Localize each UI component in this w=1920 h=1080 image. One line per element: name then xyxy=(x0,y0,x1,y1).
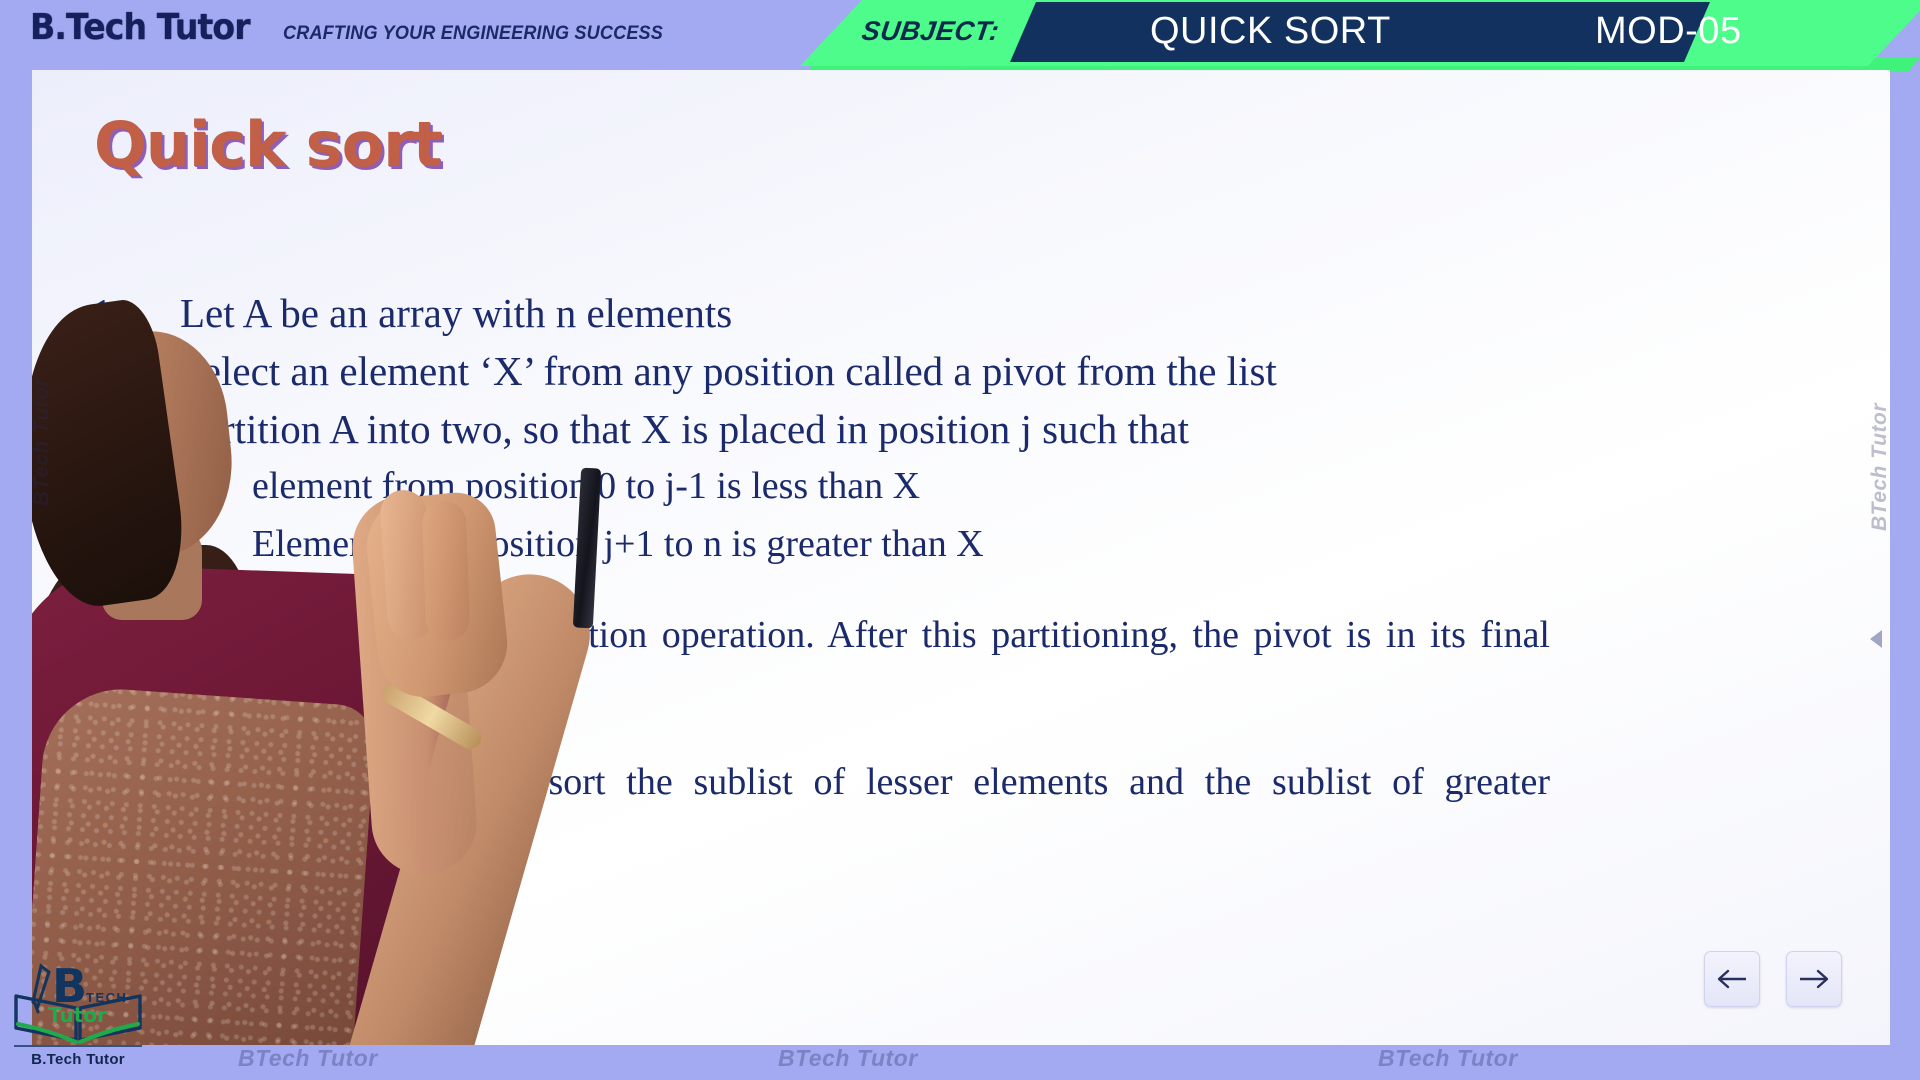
header-bar: B.Tech Tutor CRAFTING YOUR ENGINEERING S… xyxy=(0,0,1920,72)
subject-label: SUBJECT: xyxy=(860,16,1001,47)
paragraph-last-line: Then recursively sort the sublist of les… xyxy=(260,753,1550,871)
watermark-bottom: BTech Tutor xyxy=(1378,1045,1518,1072)
list-marker: 3. xyxy=(92,401,180,457)
next-slide-button[interactable] xyxy=(1786,951,1842,1007)
app-frame: B.Tech Tutor CRAFTING YOUR ENGINEERING S… xyxy=(0,0,1920,1080)
list-text: Let A be an array with n elements xyxy=(180,285,732,341)
sub-list-text: Element from position j+1 to n is greate… xyxy=(252,517,984,572)
sub-list-marker: a. xyxy=(172,459,252,514)
slide-canvas: Quick sort 1. Let A be an array with n e… xyxy=(32,70,1890,1045)
slide-navigation xyxy=(1704,951,1842,1007)
list-text: Select an element ‘X’ from any position … xyxy=(180,343,1277,399)
svg-text:Tutor: Tutor xyxy=(48,1003,107,1027)
sub-list-item: b. Element from position j+1 to n is gre… xyxy=(172,517,1852,572)
list-item: 1. Let A be an array with n elements xyxy=(92,285,1852,341)
watermark-bottom: BTech Tutor xyxy=(778,1045,918,1072)
sub-list-marker: b. xyxy=(172,517,252,572)
prev-slide-button[interactable] xyxy=(1704,951,1760,1007)
logo-caption: B.Tech Tutor xyxy=(8,1051,148,1068)
paragraph-text: This is called a partition operation. Af… xyxy=(260,614,1550,715)
slide-body: 1. Let A be an array with n elements 2. … xyxy=(92,285,1852,871)
list-text: Partition A into two, so that X is place… xyxy=(180,401,1189,457)
brand-tagline: CRAFTING YOUR ENGINEERING SUCCESS xyxy=(283,23,663,45)
list-marker: 1. xyxy=(92,285,180,341)
collapse-triangle-icon[interactable] xyxy=(1870,630,1882,648)
brand-name: B.Tech Tutor xyxy=(30,7,250,48)
watermark-right: BTech Tutor xyxy=(1868,387,1892,547)
brand-block: B.Tech Tutor CRAFTING YOUR ENGINEERING S… xyxy=(30,7,683,48)
list-item: 2. Select an element ‘X’ from any positi… xyxy=(92,343,1852,399)
sub-list-item: a. element from position 0 to j-1 is les… xyxy=(172,459,1852,514)
logo: B TECH Tutor B.Tech Tutor xyxy=(8,950,148,1070)
slide-heading: Quick sort xyxy=(94,108,441,181)
slide-paragraph: This is called a partition operation. Af… xyxy=(260,606,1550,872)
logo-book-icon: B TECH Tutor xyxy=(8,950,148,1054)
list-marker: 2. xyxy=(92,343,180,399)
arrow-right-icon xyxy=(1797,967,1831,991)
module-badge: MOD-05 xyxy=(1595,10,1742,53)
watermark-bottom: BTech Tutor xyxy=(238,1045,378,1072)
arrow-left-icon xyxy=(1715,967,1749,991)
list-item: 3. Partition A into two, so that X is pl… xyxy=(92,401,1852,457)
lecture-title: QUICK SORT xyxy=(1150,10,1391,53)
watermark-left: BTech Tutor xyxy=(30,362,54,522)
